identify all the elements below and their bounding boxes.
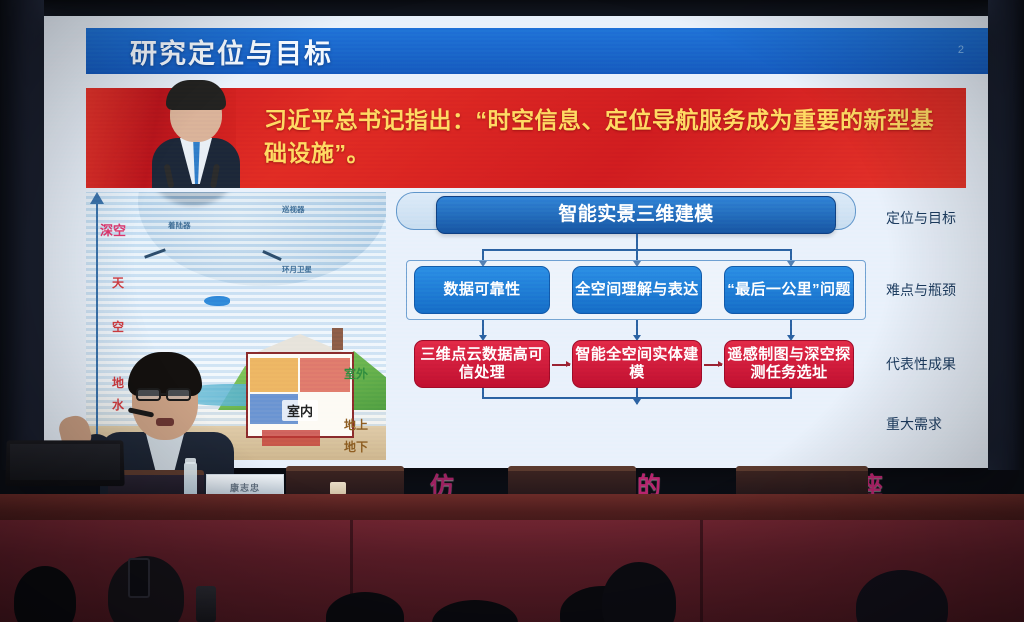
aircraft-icon bbox=[204, 296, 230, 306]
axis-arrow-head-icon bbox=[90, 192, 104, 204]
flow-result-box-3: 遥感制图与深空探测任务选址 bbox=[724, 340, 854, 388]
chimney bbox=[332, 328, 343, 350]
slide-title: 研究定位与目标 bbox=[130, 32, 333, 71]
label-underground: 地下 bbox=[344, 438, 368, 455]
flow-middle-box-1: 数据可靠性 bbox=[414, 266, 550, 314]
quote-text: 习近平总书记指出：“时空信息、定位导航服务成为重要的新型基础设施”。 bbox=[264, 104, 954, 169]
leader-portrait bbox=[148, 80, 244, 188]
slide-page-number: 2 bbox=[958, 44, 964, 56]
portrait-hair bbox=[166, 80, 226, 110]
row-label-positioning-goal: 定位与目标 bbox=[886, 208, 956, 228]
speaker-glasses-right-icon bbox=[166, 388, 191, 401]
ceiling-shadow bbox=[0, 0, 1024, 16]
row-label-difficulties: 难点与瓶颈 bbox=[886, 280, 956, 300]
row-label-major-needs: 重大需求 bbox=[886, 414, 942, 434]
quote-banner: 习近平总书记指出：“时空信息、定位导航服务成为重要的新型基础设施”。 bbox=[86, 88, 966, 188]
audience-phone bbox=[128, 558, 150, 598]
slide-title-banner: 研究定位与目标 2 bbox=[86, 28, 988, 74]
label-sky: 天 bbox=[112, 274, 124, 291]
flow-top-box: 智能实景三维建模 bbox=[436, 196, 836, 234]
row-label-achievements: 代表性成果 bbox=[886, 354, 956, 374]
callout-lander: 着陆器 bbox=[168, 220, 191, 231]
flow-middle-box-2: 全空间理解与表达 bbox=[572, 266, 702, 314]
callout-lunar-orbiter: 环月卫星 bbox=[282, 264, 312, 275]
label-deep-space: 深空 bbox=[100, 220, 126, 239]
flow-middle-box-3: “最后一公里”问题 bbox=[724, 266, 854, 314]
nameplate-text: 康志忠 bbox=[230, 481, 260, 494]
room-upper-right bbox=[300, 358, 350, 392]
wall-left bbox=[0, 0, 44, 470]
wall-divider-2 bbox=[700, 520, 703, 622]
auditorium-photo: 研究定位与目标 2 习近平总书记指出：“时空信息、定位导航服务成为重要的新型基础… bbox=[0, 0, 1024, 622]
label-air: 空 bbox=[112, 318, 124, 335]
laptop-screen bbox=[10, 444, 120, 480]
room-upper-left bbox=[250, 358, 298, 392]
label-above-ground: 地上 bbox=[344, 416, 368, 433]
speaker-mouth bbox=[156, 418, 174, 426]
arrow-head-right-2-icon bbox=[718, 361, 723, 367]
audience-bottle bbox=[196, 586, 216, 622]
connector-vertical-top bbox=[636, 234, 638, 250]
wall-right bbox=[988, 0, 1024, 470]
flow-result-box-2: 智能全空间实体建模 bbox=[572, 340, 702, 388]
label-outdoor: 室外 bbox=[344, 368, 368, 382]
speaker-glasses-left-icon bbox=[136, 388, 161, 401]
flow-result-box-1: 三维点云数据高可信处理 bbox=[414, 340, 550, 388]
arrow-head-right-1-icon bbox=[566, 361, 571, 367]
label-indoor: 室内 bbox=[282, 400, 318, 421]
speaker-glasses-bridge bbox=[161, 393, 166, 395]
research-flowchart: 智能实景三维建模 数据可靠性 全空间理解与表达 “最后一公里”问题 三维点云数据… bbox=[396, 192, 986, 460]
arrow-head-down-7-icon bbox=[633, 399, 641, 405]
basement-room bbox=[262, 430, 320, 446]
callout-rover: 巡视器 bbox=[282, 204, 305, 215]
